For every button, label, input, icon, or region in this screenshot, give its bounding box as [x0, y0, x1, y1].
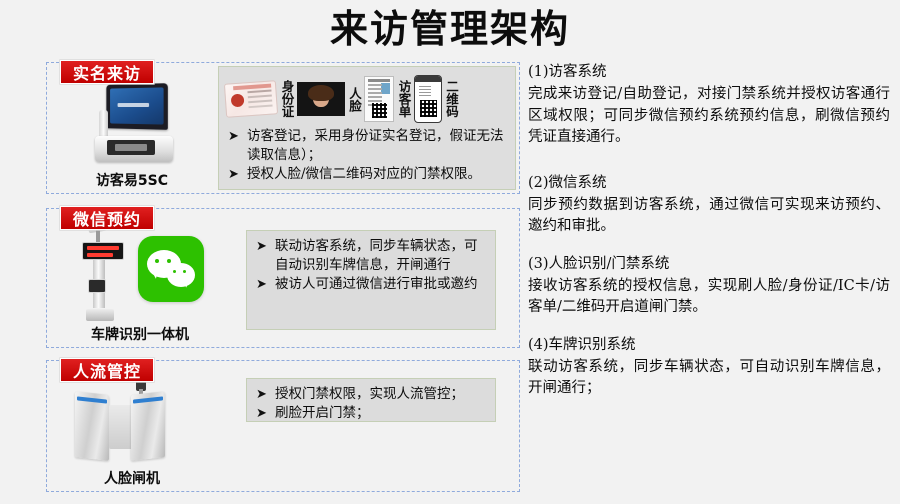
thumb-label-face: 人脸 [348, 87, 361, 112]
face-photo-icon [297, 82, 345, 116]
thumb-pair-face: 人脸 [297, 82, 365, 116]
arrow-bullet-icon: ➤ [256, 237, 267, 256]
bullet-list-2: ➤联动访客系统，同步车辆状态，可自动识别车牌信息，开闸通行 ➤被访人可通过微信进… [253, 237, 486, 294]
bullet-text: 刷脸开启门禁； [275, 405, 370, 421]
arrow-bullet-icon: ➤ [256, 385, 267, 404]
description-body-1: 完成来访登记/自助登记，对接门禁系统并授权访客通行区域权限；可同步微信预约系统预… [528, 84, 890, 149]
info-card-3: ➤授权门禁权限，实现人流管控； ➤刷脸开启门禁； [246, 378, 496, 422]
section-badge-1: 实名来访 [60, 60, 154, 84]
arrow-bullet-icon: ➤ [256, 404, 267, 423]
info-card-2: ➤联动访客系统，同步车辆状态，可自动识别车牌信息，开闸通行 ➤被访人可通过微信进… [246, 230, 496, 330]
page-title: 来访管理架构 [0, 4, 900, 54]
device-block-2: 车牌识别一体机 [52, 224, 228, 344]
description-block-2: (2)微信系统 同步预约数据到访客系统，通过微信可实现来访预约、邀约和审批。 [528, 173, 890, 238]
list-item: ➤访客登记，采用身份证实名登记，假证无法读取信息）； [225, 127, 506, 165]
bullet-list-3: ➤授权门禁权限，实现人流管控； ➤刷脸开启门禁； [253, 385, 486, 423]
device-block-1: 访客易5SC [52, 78, 212, 190]
visitor-kiosk-icon [52, 78, 212, 167]
thumb-pair-qr: 二维码 [414, 75, 462, 123]
device-caption-3: 人脸闸机 [104, 468, 160, 488]
device-caption-1: 访客易5SC [96, 170, 168, 190]
bullet-text: 被访人可通过微信进行审批或邀约 [275, 276, 478, 292]
bullet-text: 授权门禁权限，实现人流管控； [275, 386, 464, 402]
section-badge-2: 微信预约 [60, 206, 154, 230]
description-block-3: (3)人脸识别/门禁系统 接收访客系统的授权信息，实现刷人脸/身份证/IC卡/访… [528, 254, 890, 319]
info-card-1: 身份证 人脸 访客单 二维码 ➤访客登记，采用身份证实名登记，假证无法读取信息）… [218, 66, 516, 190]
description-column: (1)访客系统 完成来访登记/自助登记，对接门禁系统并授权访客通行区域权限；可同… [528, 62, 890, 413]
list-item: ➤授权人脸/微信二维码对应的门禁权限。 [225, 165, 506, 184]
turnstile-gate-icon [52, 371, 212, 465]
device-block-3: 人脸闸机 [52, 372, 212, 488]
device-caption-2: 车牌识别一体机 [91, 324, 189, 344]
description-heading-3: (3)人脸识别/门禁系统 [528, 254, 890, 275]
description-heading-2: (2)微信系统 [528, 173, 890, 194]
arrow-bullet-icon: ➤ [228, 127, 239, 146]
thumb-pair-idcard: 身份证 [225, 80, 297, 118]
id-card-icon [224, 80, 278, 118]
section-badge-3: 人流管控 [60, 358, 154, 382]
bullet-list-1: ➤访客登记，采用身份证实名登记，假证无法读取信息）； ➤授权人脸/微信二维码对应… [225, 127, 506, 184]
lpr-pole-icon [76, 217, 128, 321]
thumb-label-idcard: 身份证 [280, 80, 293, 118]
wechat-logo-icon [138, 236, 204, 302]
description-heading-4: (4)车牌识别系统 [528, 335, 890, 356]
bullet-text: 授权人脸/微信二维码对应的门禁权限。 [247, 166, 481, 182]
device-art-2 [52, 217, 228, 321]
credential-thumbnails: 身份证 人脸 访客单 二维码 [225, 73, 506, 125]
list-item: ➤联动访客系统，同步车辆状态，可自动识别车牌信息，开闸通行 [253, 237, 486, 275]
description-body-4: 联动访客系统，同步车辆状态，可自动识别车牌信息，开闸通行； [528, 357, 890, 400]
qr-code-phone-icon [414, 75, 442, 123]
thumb-label-form: 访客单 [397, 80, 410, 118]
list-item: ➤授权门禁权限，实现人流管控； [253, 385, 486, 404]
thumb-pair-form: 访客单 [364, 76, 414, 122]
description-body-2: 同步预约数据到访客系统，通过微信可实现来访预约、邀约和审批。 [528, 195, 890, 238]
description-block-4: (4)车牌识别系统 联动访客系统，同步车辆状态，可自动识别车牌信息，开闸通行； [528, 335, 890, 400]
list-item: ➤刷脸开启门禁； [253, 404, 486, 423]
thumb-label-qr: 二维码 [445, 80, 458, 118]
bullet-text: 联动访客系统，同步车辆状态，可自动识别车牌信息，开闸通行 [275, 238, 478, 273]
list-item: ➤被访人可通过微信进行审批或邀约 [253, 275, 486, 294]
visitor-form-icon [364, 76, 394, 122]
description-body-3: 接收访客系统的授权信息，实现刷人脸/身份证/IC卡/访客单/二维码开启道闸门禁。 [528, 276, 890, 319]
arrow-bullet-icon: ➤ [256, 275, 267, 294]
bullet-text: 访客登记，采用身份证实名登记，假证无法读取信息）； [247, 128, 504, 163]
slide-canvas: 来访管理架构 实名来访 访客易5SC 身份证 人脸 [0, 0, 900, 504]
arrow-bullet-icon: ➤ [228, 165, 239, 184]
description-heading-1: (1)访客系统 [528, 62, 890, 83]
description-block-1: (1)访客系统 完成来访登记/自助登记，对接门禁系统并授权访客通行区域权限；可同… [528, 62, 890, 149]
